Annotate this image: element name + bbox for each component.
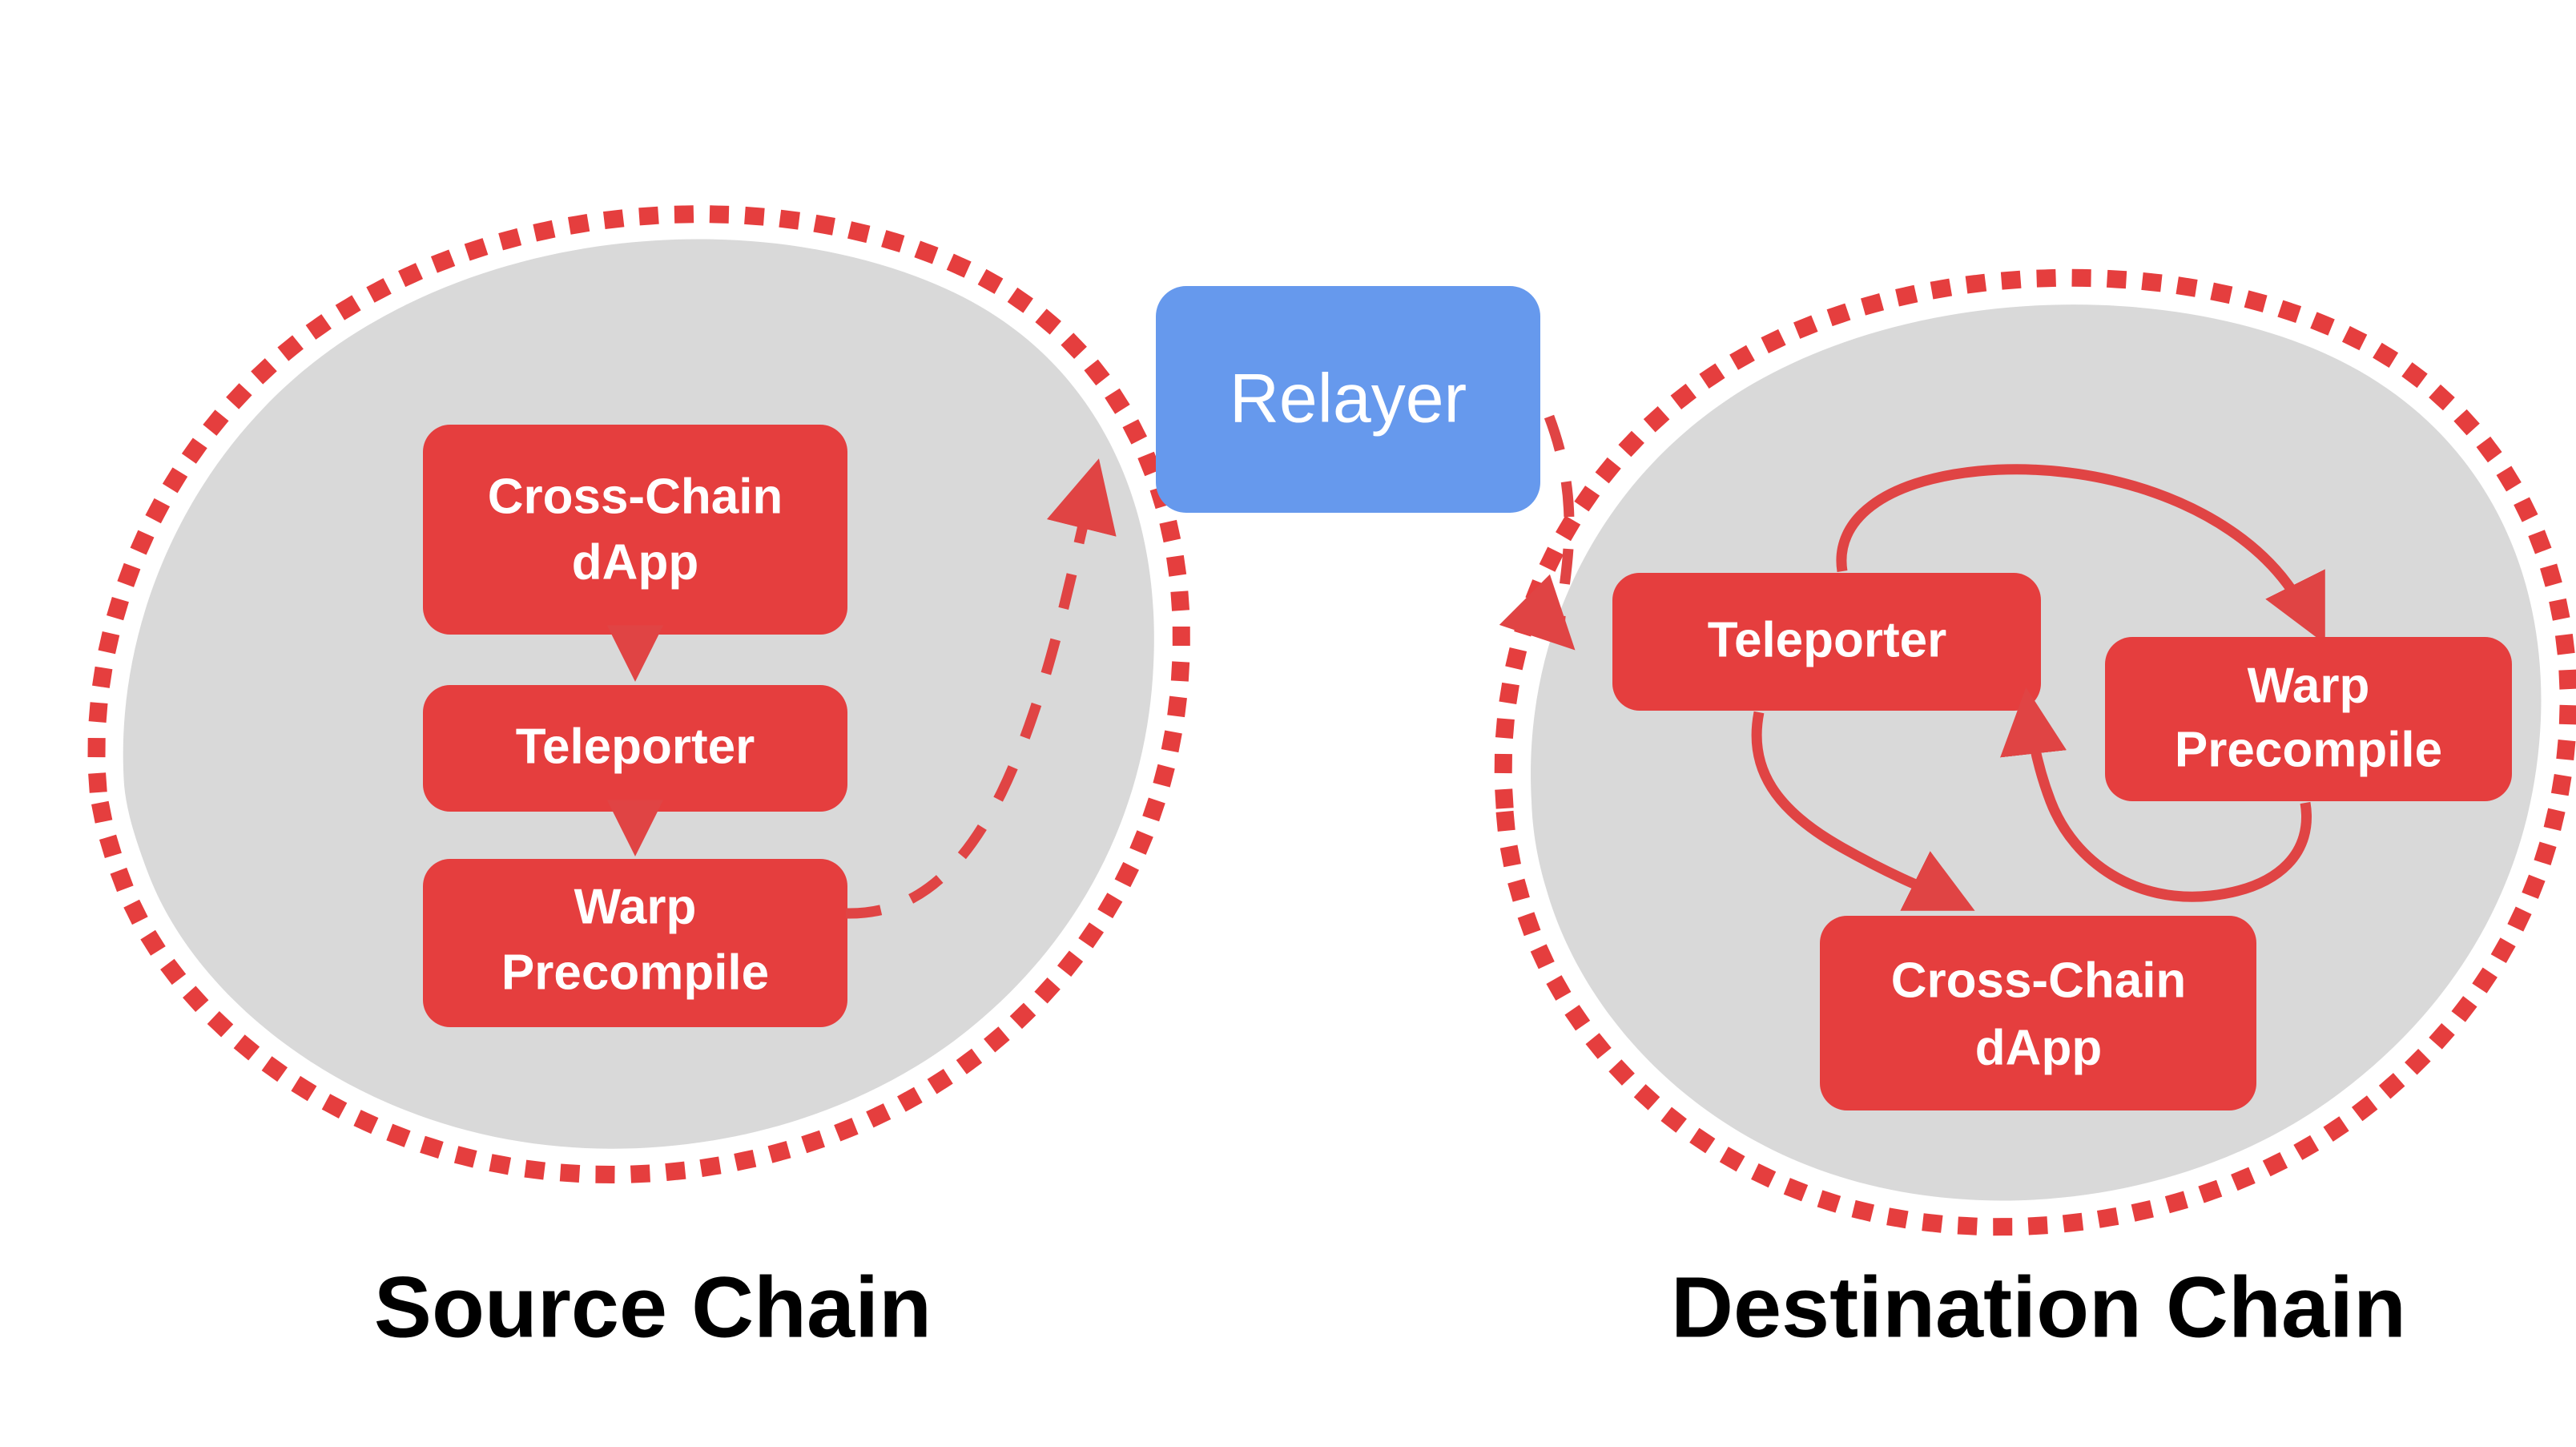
relayer-label: Relayer — [1230, 361, 1467, 437]
destination-chain-caption: Destination Chain — [1671, 1259, 2406, 1356]
node-label-line1: Cross-Chain — [488, 469, 783, 524]
node-source-cross-chain-dapp[interactable]: Cross-Chain dApp — [423, 425, 847, 635]
node-destination-teleporter[interactable]: Teleporter — [1612, 573, 2041, 711]
node-label-line2: dApp — [572, 534, 698, 590]
source-chain-caption: Source Chain — [374, 1259, 932, 1356]
diagram-canvas: Cross-Chain dApp Teleporter Warp Precomp… — [0, 0, 2576, 1447]
node-source-teleporter[interactable]: Teleporter — [423, 685, 847, 812]
node-source-warp-precompile[interactable]: Warp Precompile — [423, 859, 847, 1027]
node-label-line2: dApp — [1975, 1020, 2102, 1075]
node-label-line2: Precompile — [2175, 722, 2442, 777]
destination-chain-group: Teleporter Warp Precompile Cross-Chain d… — [1503, 278, 2569, 1227]
node-label-line1: Cross-Chain — [1891, 953, 2187, 1008]
teleporter-flow-diagram: Cross-Chain dApp Teleporter Warp Precomp… — [0, 0, 2576, 1447]
node-label-line1: Teleporter — [1708, 612, 1947, 667]
node-destination-warp-precompile[interactable]: Warp Precompile — [2105, 637, 2512, 801]
node-destination-cross-chain-dapp[interactable]: Cross-Chain dApp — [1820, 916, 2256, 1110]
node-label-line1: Warp — [574, 879, 697, 934]
node-box — [1820, 916, 2256, 1110]
node-box — [423, 425, 847, 635]
node-relayer[interactable]: Relayer — [1156, 286, 1540, 513]
node-label-line1: Teleporter — [516, 719, 755, 774]
source-chain-group: Cross-Chain dApp Teleporter Warp Precomp… — [97, 214, 1181, 1175]
node-label-line1: Warp — [2248, 658, 2370, 713]
node-label-line2: Precompile — [501, 945, 769, 1000]
